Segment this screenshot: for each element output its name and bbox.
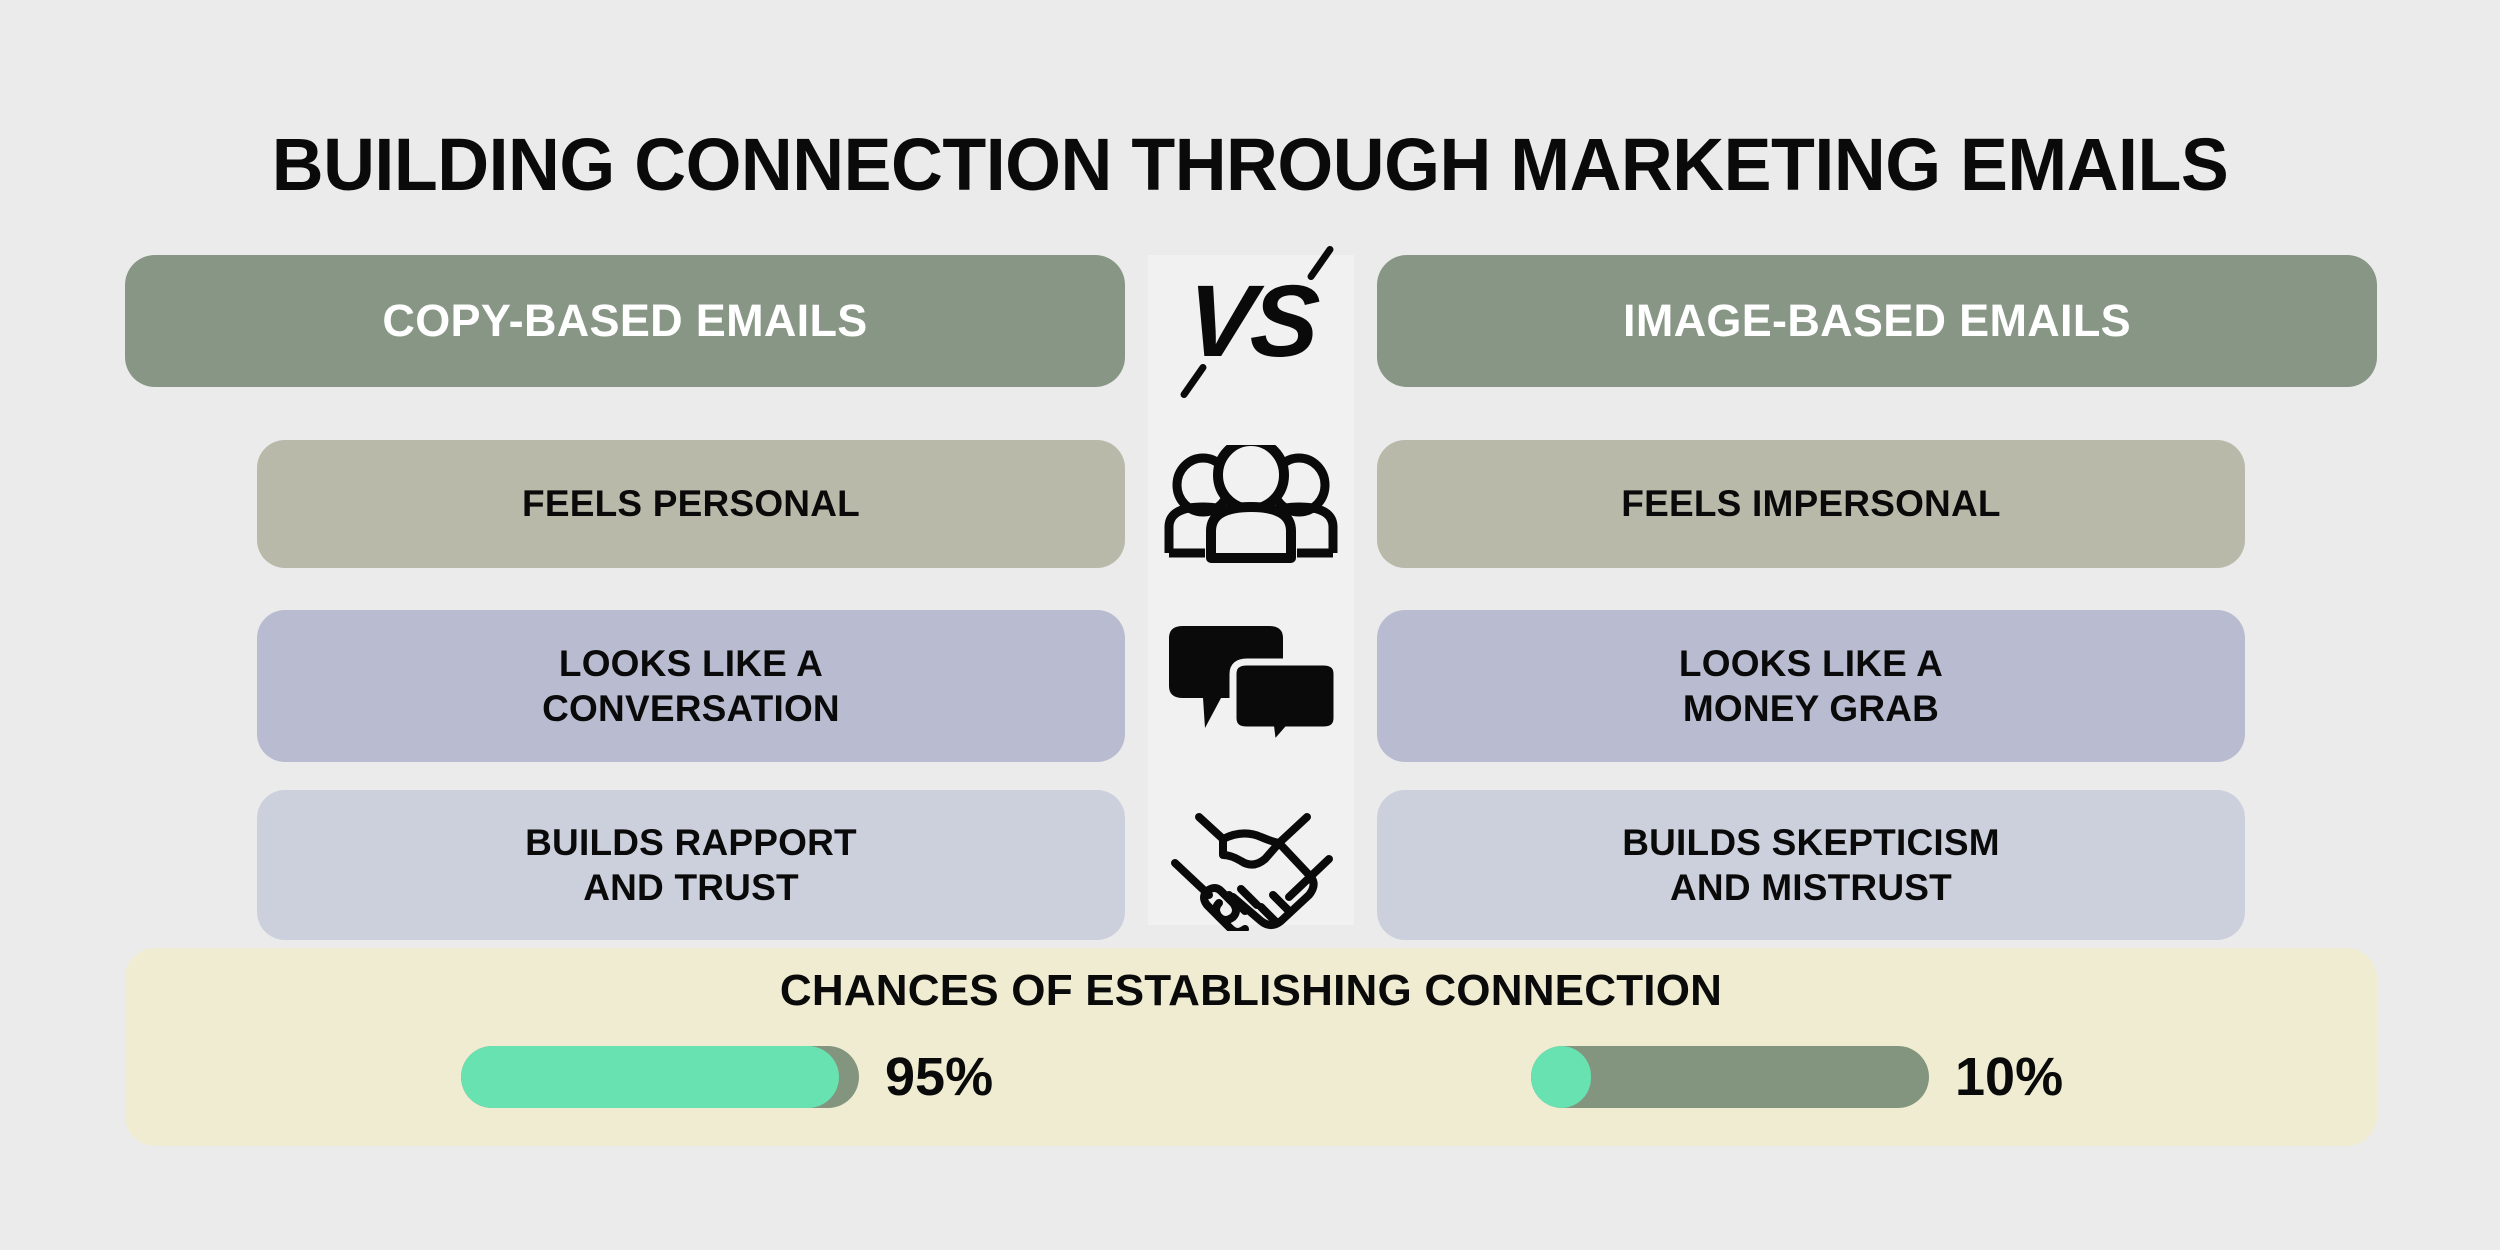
row-label-right-skepticism-line2: AND MISTRUST [1670, 867, 1952, 908]
meter-track-left [461, 1046, 859, 1108]
meter-value-left: 95% [885, 1046, 993, 1108]
row-label-left-rapport-line2: AND TRUST [583, 867, 799, 908]
footer-panel: CHANCES OF ESTABLISHING CONNECTION 95% 1… [125, 948, 2377, 1146]
vs-label: VS [1183, 270, 1318, 372]
meter-fill-right [1531, 1046, 1591, 1108]
column-header-right: IMAGE-BASED EMAILS [1377, 255, 2377, 387]
row-label-right-skepticism: BUILDS SKEPTICISM AND MISTRUST [1377, 790, 2245, 940]
speech-bubbles-icon [1148, 616, 1354, 756]
row-label-right-money-grab-line1: LOOKS LIKE A [1679, 643, 1943, 684]
meter-fill-left [461, 1046, 839, 1108]
people-group-icon [1148, 432, 1354, 576]
meter-left-group: 95% [461, 1046, 993, 1108]
row-label-right-money-grab: LOOKS LIKE A MONEY GRAB [1377, 610, 2245, 762]
row-label-right-skepticism-line1: BUILDS SKEPTICISM [1622, 822, 2000, 863]
meter-right-group: 10% [1531, 1046, 2063, 1108]
handshake-icon [1148, 794, 1354, 936]
row-label-left-conversation-line1: LOOKS LIKE A [559, 643, 823, 684]
row-label-left-conversation: LOOKS LIKE A CONVERSATION [257, 610, 1125, 762]
infographic-canvas: BUILDING CONNECTION THROUGH MARKETING EM… [0, 0, 2500, 1250]
page-title: BUILDING CONNECTION THROUGH MARKETING EM… [38, 122, 2463, 207]
column-header-left: COPY-BASED EMAILS [125, 255, 1125, 387]
versus-emblem: VS [1148, 255, 1354, 387]
row-label-left-rapport: BUILDS RAPPORT AND TRUST [257, 790, 1125, 940]
row-label-right-money-grab-line2: MONEY GRAB [1683, 688, 1939, 729]
row-label-left-feels-personal: FEELS PERSONAL [257, 440, 1125, 568]
row-label-left-rapport-line1: BUILDS RAPPORT [525, 822, 857, 863]
meter-track-right [1531, 1046, 1929, 1108]
footer-title: CHANCES OF ESTABLISHING CONNECTION [125, 966, 2377, 1016]
meter-value-right: 10% [1955, 1046, 2063, 1108]
row-label-left-conversation-line2: CONVERSATION [542, 688, 840, 729]
row-label-right-feels-impersonal: FEELS IMPERSONAL [1377, 440, 2245, 568]
